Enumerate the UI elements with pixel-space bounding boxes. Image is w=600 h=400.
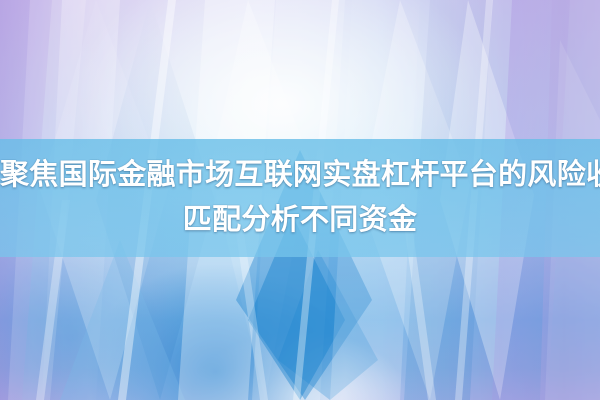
banner-graphic: 聚焦国际金融市场互联网实盘杠杆平台的风险收益 匹配分析不同资金: [0, 0, 600, 400]
headline-line-2: 匹配分析不同资金: [0, 198, 600, 243]
page-title: 聚焦国际金融市场互联网实盘杠杆平台的风险收益 匹配分析不同资金: [0, 153, 600, 243]
headline-line-1: 聚焦国际金融市场互联网实盘杠杆平台的风险收益: [0, 153, 600, 198]
headline-overlay-band: 聚焦国际金融市场互联网实盘杠杆平台的风险收益 匹配分析不同资金: [0, 139, 600, 257]
